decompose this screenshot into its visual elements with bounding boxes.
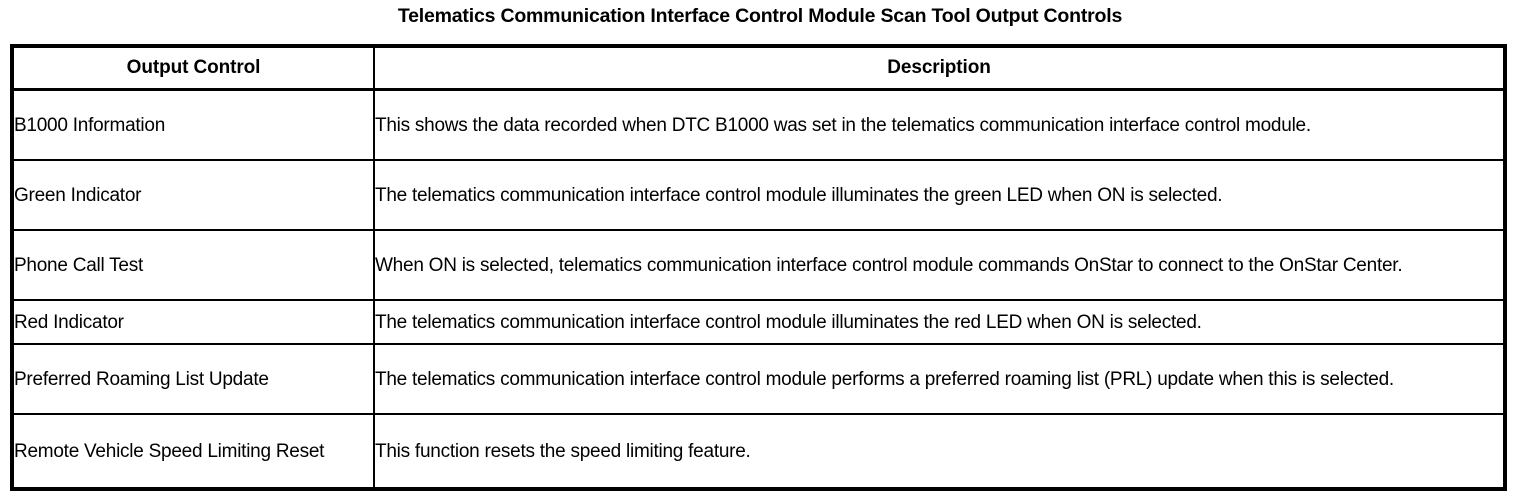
cell-output-control: Phone Call Test (12, 230, 374, 300)
output-control-name: Remote Vehicle Speed Limiting Reset (14, 439, 373, 464)
output-control-description: This shows the data recorded when DTC B1… (375, 113, 1503, 138)
cell-output-control: Green Indicator (12, 160, 374, 230)
table-row: Phone Call Test When ON is selected, tel… (12, 230, 1505, 300)
table-body: B1000 Information This shows the data re… (12, 90, 1505, 490)
table-header-row: Output Control Description (12, 46, 1505, 90)
output-control-description: The telematics communication interface c… (375, 310, 1503, 335)
table-row: Preferred Roaming List Update The telema… (12, 344, 1505, 414)
cell-output-control: Remote Vehicle Speed Limiting Reset (12, 414, 374, 489)
output-controls-table: Output Control Description B1000 Informa… (10, 44, 1507, 491)
output-control-description: This function resets the speed limiting … (375, 439, 1503, 464)
output-control-description: When ON is selected, telematics communic… (375, 253, 1503, 278)
output-control-name: Preferred Roaming List Update (14, 367, 373, 392)
cell-description: The telematics communication interface c… (374, 344, 1505, 414)
cell-description: The telematics communication interface c… (374, 160, 1505, 230)
table-row: Red Indicator The telematics communicati… (12, 300, 1505, 344)
output-control-description: The telematics communication interface c… (375, 183, 1503, 208)
cell-description: When ON is selected, telematics communic… (374, 230, 1505, 300)
table-header: Output Control Description (12, 46, 1505, 90)
output-control-name: Green Indicator (14, 183, 373, 208)
document-page: Telematics Communication Interface Contr… (0, 0, 1520, 498)
output-control-name: B1000 Information (14, 113, 373, 138)
cell-output-control: Red Indicator (12, 300, 374, 344)
column-header-description: Description (374, 46, 1505, 90)
table-row: Green Indicator The telematics communica… (12, 160, 1505, 230)
output-controls-table-wrapper: Output Control Description B1000 Informa… (10, 44, 1507, 491)
output-control-description: The telematics communication interface c… (375, 367, 1503, 392)
column-header-output-control: Output Control (12, 46, 374, 90)
cell-description: This function resets the speed limiting … (374, 414, 1505, 489)
cell-description: This shows the data recorded when DTC B1… (374, 90, 1505, 161)
cell-description: The telematics communication interface c… (374, 300, 1505, 344)
cell-output-control: Preferred Roaming List Update (12, 344, 374, 414)
output-control-name: Phone Call Test (14, 253, 373, 278)
page-title: Telematics Communication Interface Contr… (0, 4, 1520, 28)
cell-output-control: B1000 Information (12, 90, 374, 161)
output-control-name: Red Indicator (14, 310, 373, 335)
table-row: Remote Vehicle Speed Limiting Reset This… (12, 414, 1505, 489)
table-row: B1000 Information This shows the data re… (12, 90, 1505, 161)
